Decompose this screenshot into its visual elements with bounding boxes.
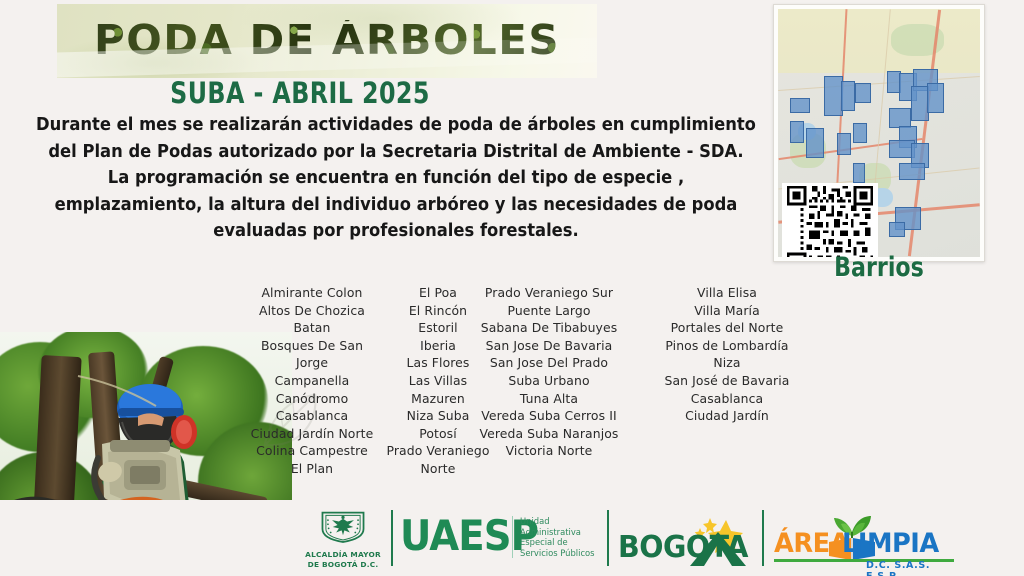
neighborhood-item: Bosques De San (242, 337, 382, 355)
map-neighborhood-polygon (927, 83, 943, 113)
subtitle-locality-month: SUBA - ABRIL 2025 (54, 76, 546, 110)
neighborhood-lists: Almirante ColonAltos De ChozicaBatanBosq… (0, 284, 1024, 484)
area-limpia-logo: ÁREA LIMPIA D.C. S.A.S. E.S.P. (770, 506, 966, 572)
map-neighborhood-polygon (837, 133, 851, 155)
neighborhood-item: Villa Elisa (646, 284, 808, 302)
poster-canvas: PODA DE ÁRBOLES SUBA - ABRIL 2025 Durant… (0, 0, 1024, 576)
neighborhood-item: Potosí (386, 425, 490, 443)
neighborhood-item: Canódromo (242, 390, 382, 408)
neighborhood-item: Portales del Norte (646, 319, 808, 337)
limpia-word: LIMPIA (842, 528, 939, 559)
neighborhood-item: Sabana De Tibabuyes (478, 319, 620, 337)
neighborhood-column-3: Prado Veraniego SurPuente LargoSabana De… (478, 284, 620, 460)
neighborhood-item: Mazuren (386, 390, 490, 408)
footer-divider (391, 510, 393, 566)
uaesp-description: Unidad Administrativa Especial de Servic… (512, 516, 596, 558)
alcaldia-mayor-logo: ALCALDÍA MAYOR DE BOGOTÁ D.C. (305, 504, 381, 574)
neighborhood-item: Colina Campestre (242, 442, 382, 460)
map-neighborhood-polygon (790, 98, 810, 113)
neighborhood-item: Niza Suba (386, 407, 490, 425)
map-neighborhood-polygon (853, 123, 867, 143)
page-title: PODA DE ÁRBOLES (57, 20, 597, 61)
bogota-shield-icon (317, 504, 369, 550)
neighborhood-item: Batan (242, 319, 382, 337)
neighborhood-column-4: Villa ElisaVilla MaríaPortales del Norte… (646, 284, 808, 425)
map-neighborhood-polygon (889, 222, 905, 237)
neighborhood-item: San Jose Del Prado (478, 354, 620, 372)
neighborhood-column-2: El PoaEl RincónEstorilIberiaLas FloresLa… (386, 284, 490, 478)
footer-logo-bar: ALCALDÍA MAYOR DE BOGOTÁ D.C. UAESP Unid… (0, 500, 1024, 576)
neighborhood-column-1: Almirante ColonAltos De ChozicaBatanBosq… (242, 284, 382, 478)
neighborhood-item: Vereda Suba Cerros II (478, 407, 620, 425)
qr-code[interactable] (782, 183, 878, 257)
map-neighborhood-polygon (806, 128, 824, 158)
area-limpia-legal: D.C. S.A.S. E.S.P. (866, 560, 966, 576)
neighborhood-item: Iberia (386, 337, 490, 355)
area-word: ÁREA (774, 528, 849, 559)
neighborhood-item: Las Villas (386, 372, 490, 390)
map-neighborhood-polygon (841, 81, 855, 111)
body-paragraph: Durante el mes se realizarán actividades… (35, 112, 757, 245)
map-caption: Barrios (792, 252, 966, 283)
alcaldia-caption: ALCALDÍA MAYOR DE BOGOTÁ D.C. (305, 550, 381, 569)
neighborhood-item: Vereda Suba Naranjos (478, 425, 620, 443)
neighborhood-item: El Poa (386, 284, 490, 302)
neighborhood-item: Las Flores (386, 354, 490, 372)
neighborhood-item: Ciudad Jardín Norte (242, 425, 382, 443)
neighborhood-item: Victoria Norte (478, 442, 620, 460)
footer-divider (762, 510, 764, 566)
neighborhood-item: Casablanca (242, 407, 382, 425)
neighborhood-item: Villa María (646, 302, 808, 320)
neighborhood-item: Norte (386, 460, 490, 478)
neighborhood-item: Campanella (242, 372, 382, 390)
map-neighborhood-polygon (790, 121, 804, 143)
bogota-logo: BOGOTA (618, 514, 754, 566)
map-neighborhood-polygon (853, 163, 865, 183)
map-canvas (778, 9, 980, 257)
map-neighborhood-polygon (855, 83, 871, 103)
neighborhood-item: San Jose De Bavaria (478, 337, 620, 355)
neighborhood-item: Jorge (242, 354, 382, 372)
neighborhood-item: El Plan (242, 460, 382, 478)
neighborhood-item: Suba Urbano (478, 372, 620, 390)
uaesp-logo: UAESP Unidad Administrativa Especial de … (400, 512, 550, 560)
title-banner: PODA DE ÁRBOLES (57, 4, 597, 78)
neighborhood-item: Altos De Chozica (242, 302, 382, 320)
neighborhood-item: Almirante Colon (242, 284, 382, 302)
neighborhood-item: Pinos de Lombardía (646, 337, 808, 355)
neighborhood-item: Puente Largo (478, 302, 620, 320)
map-panel[interactable] (773, 4, 985, 262)
neighborhood-item: El Rincón (386, 302, 490, 320)
neighborhood-item: Tuna Alta (478, 390, 620, 408)
neighborhood-item: Niza (646, 354, 808, 372)
footer-divider (607, 510, 609, 566)
neighborhood-item: Casablanca (646, 390, 808, 408)
neighborhood-item: Ciudad Jardín (646, 407, 808, 425)
neighborhood-item: Estoril (386, 319, 490, 337)
neighborhood-item: Prado Veraniego (386, 442, 490, 460)
neighborhood-item: Prado Veraniego Sur (478, 284, 620, 302)
map-neighborhood-polygon (899, 163, 925, 180)
neighborhood-item: San José de Bavaria (646, 372, 808, 390)
bogota-wordmark: BOGOTA (618, 530, 748, 565)
